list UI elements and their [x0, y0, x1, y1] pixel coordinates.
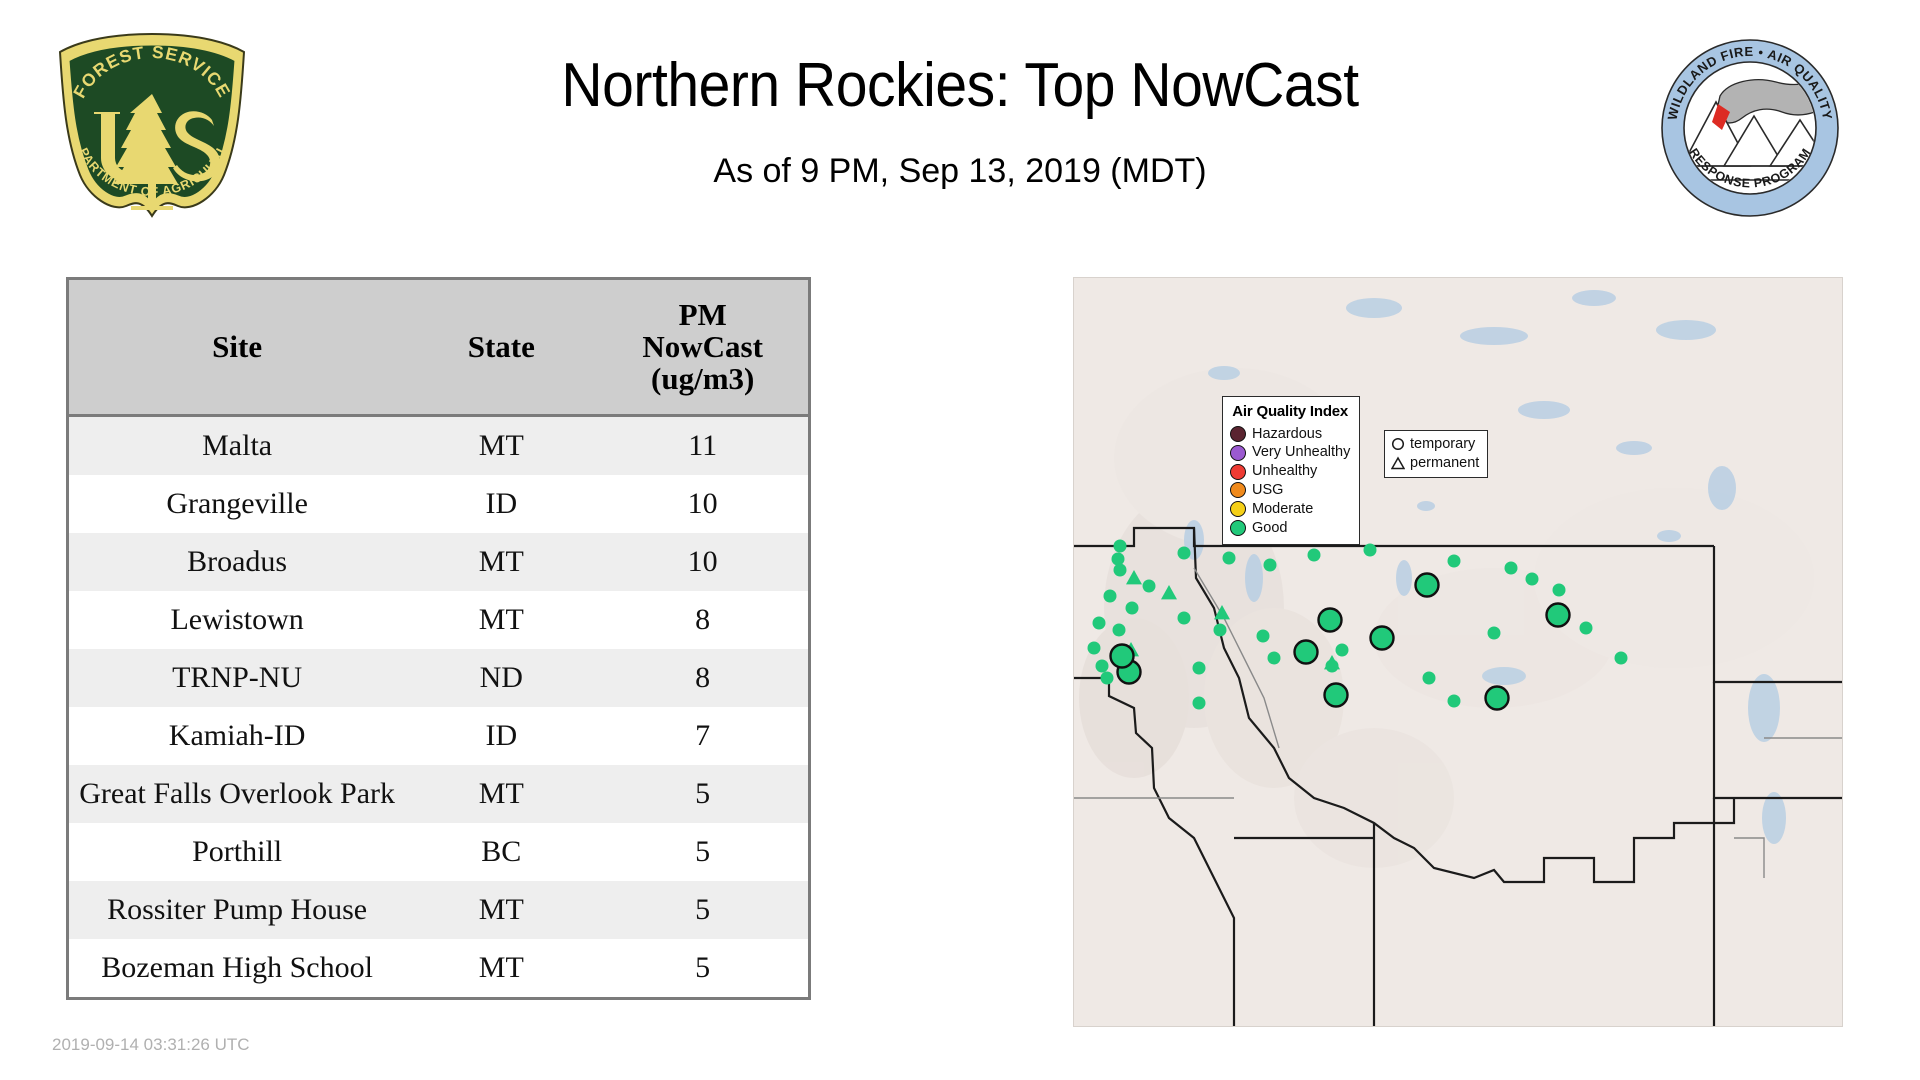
monitor-marker-top-site[interactable] — [1416, 574, 1439, 597]
legend-permanent-label: permanent — [1410, 454, 1479, 473]
monitor-marker-small[interactable] — [1143, 580, 1156, 593]
monitor-marker-top-site[interactable] — [1111, 645, 1134, 668]
air-quality-map[interactable]: Air Quality Index HazardousVery Unhealth… — [1073, 277, 1843, 1027]
triangle-icon — [1391, 456, 1405, 470]
table-row: Rossiter Pump HouseMT5 — [69, 881, 808, 939]
monitor-marker-small[interactable] — [1448, 695, 1461, 708]
legend-color-swatch — [1230, 482, 1246, 498]
monitor-marker-small[interactable] — [1101, 672, 1114, 685]
monitor-marker-small[interactable] — [1193, 697, 1206, 710]
monitor-marker-small[interactable] — [1113, 624, 1126, 637]
state-cell: BC — [405, 823, 597, 881]
monitor-marker-small[interactable] — [1505, 562, 1518, 575]
value-cell: 7 — [597, 707, 808, 765]
monitor-marker-small[interactable] — [1336, 644, 1349, 657]
legend-air-quality-index: Air Quality Index HazardousVery Unhealth… — [1222, 396, 1360, 545]
value-cell: 11 — [597, 416, 808, 476]
site-cell: Lewistown — [69, 591, 405, 649]
column-header-site: Site — [69, 280, 405, 416]
site-cell: Broadus — [69, 533, 405, 591]
legend-item-label: Moderate — [1252, 500, 1313, 519]
site-cell: Grangeville — [69, 475, 405, 533]
table-header: Site State PM NowCast (ug/m3) — [69, 280, 808, 416]
page-title: Northern Rockies: Top NowCast — [77, 50, 1843, 121]
value-cell: 10 — [597, 475, 808, 533]
value-cell: 5 — [597, 939, 808, 997]
value-cell: 5 — [597, 765, 808, 823]
footer-timestamp: 2019-09-14 03:31:26 UTC — [52, 1035, 250, 1055]
nowcast-table-container: Site State PM NowCast (ug/m3) MaltaMT11G… — [66, 277, 811, 1000]
column-header-state-label: State — [468, 329, 535, 364]
legend-item: Unhealthy — [1230, 462, 1350, 481]
table-row: Kamiah-IDID7 — [69, 707, 808, 765]
monitor-marker-small[interactable] — [1553, 584, 1566, 597]
monitor-marker-small[interactable] — [1488, 627, 1501, 640]
legend-temporary-row: temporary — [1391, 435, 1479, 454]
site-cell: Kamiah-ID — [69, 707, 405, 765]
monitor-marker-top-site[interactable] — [1319, 609, 1342, 632]
column-header-site-label: Site — [212, 329, 262, 364]
monitor-marker-top-site[interactable] — [1371, 627, 1394, 650]
legend-monitor-type: temporary permanent — [1384, 430, 1488, 478]
monitor-marker-small[interactable] — [1423, 672, 1436, 685]
state-cell: MT — [405, 939, 597, 997]
legend-temporary-label: temporary — [1410, 435, 1475, 454]
monitor-marker-top-site[interactable] — [1547, 604, 1570, 627]
state-cell: ND — [405, 649, 597, 707]
table-row: GrangevilleID10 — [69, 475, 808, 533]
table-row: PorthillBC5 — [69, 823, 808, 881]
monitor-marker-small[interactable] — [1104, 590, 1117, 603]
legend-item: Very Unhealthy — [1230, 443, 1350, 462]
table-row: BroadusMT10 — [69, 533, 808, 591]
monitor-marker-small[interactable] — [1257, 630, 1270, 643]
monitor-marker-small[interactable] — [1214, 624, 1227, 637]
state-cell: ID — [405, 475, 597, 533]
legend-color-swatch — [1230, 464, 1246, 480]
legend-items: HazardousVery UnhealthyUnhealthyUSGModer… — [1230, 425, 1350, 538]
monitor-marker-small[interactable] — [1193, 662, 1206, 675]
legend-item-label: Unhealthy — [1252, 462, 1317, 481]
monitor-marker-top-site[interactable] — [1486, 687, 1509, 710]
legend-item-label: Very Unhealthy — [1252, 443, 1350, 462]
legend-color-swatch — [1230, 426, 1246, 442]
legend-item-label: USG — [1252, 481, 1283, 500]
table-row: Bozeman High SchoolMT5 — [69, 939, 808, 997]
monitor-marker-small[interactable] — [1178, 612, 1191, 625]
monitor-marker-small[interactable] — [1526, 573, 1539, 586]
value-cell: 10 — [597, 533, 808, 591]
value-cell: 5 — [597, 881, 808, 939]
monitor-marker-small[interactable] — [1114, 540, 1127, 553]
wildland-fire-air-quality-logo: WILDLAND FIRE • AIR QUALITY RESPONSE PRO… — [1660, 38, 1840, 218]
column-header-state: State — [405, 280, 597, 416]
monitor-marker-small[interactable] — [1112, 553, 1125, 566]
legend-item-label: Good — [1252, 519, 1287, 538]
nowcast-table: Site State PM NowCast (ug/m3) MaltaMT11G… — [69, 280, 808, 997]
site-cell: Rossiter Pump House — [69, 881, 405, 939]
column-header-pm-line2: NowCast — [642, 329, 763, 364]
monitor-marker-small[interactable] — [1126, 602, 1139, 615]
monitor-marker-small[interactable] — [1268, 652, 1281, 665]
monitor-marker-small[interactable] — [1093, 617, 1106, 630]
state-cell: MT — [405, 416, 597, 476]
monitor-marker-small[interactable] — [1264, 559, 1277, 572]
monitor-marker-small[interactable] — [1308, 549, 1321, 562]
monitor-marker-small[interactable] — [1223, 552, 1236, 565]
column-header-pm-line3: (ug/m3) — [651, 361, 754, 396]
value-cell: 8 — [597, 649, 808, 707]
state-cell: MT — [405, 765, 597, 823]
monitor-marker-small[interactable] — [1364, 544, 1377, 557]
monitor-marker-small[interactable] — [1580, 622, 1593, 635]
legend-item: Good — [1230, 519, 1350, 538]
legend-item: Moderate — [1230, 500, 1350, 519]
site-cell: Great Falls Overlook Park — [69, 765, 405, 823]
site-cell: TRNP-NU — [69, 649, 405, 707]
monitor-marker-small[interactable] — [1448, 555, 1461, 568]
site-cell: Bozeman High School — [69, 939, 405, 997]
site-cell: Malta — [69, 416, 405, 476]
monitor-marker-small[interactable] — [1615, 652, 1628, 665]
monitor-marker-small[interactable] — [1178, 547, 1191, 560]
state-cell: MT — [405, 533, 597, 591]
table-header-row: Site State PM NowCast (ug/m3) — [69, 280, 808, 416]
value-cell: 5 — [597, 823, 808, 881]
table-body: MaltaMT11GrangevilleID10BroadusMT10Lewis… — [69, 416, 808, 998]
monitor-marker-small[interactable] — [1088, 642, 1101, 655]
table-row: MaltaMT11 — [69, 416, 808, 476]
page-subtitle: As of 9 PM, Sep 13, 2019 (MDT) — [0, 152, 1920, 191]
legend-color-swatch — [1230, 520, 1246, 536]
site-cell: Porthill — [69, 823, 405, 881]
state-cell: MT — [405, 591, 597, 649]
circle-icon — [1391, 437, 1405, 451]
legend-color-swatch — [1230, 501, 1246, 517]
column-header-pm-nowcast: PM NowCast (ug/m3) — [597, 280, 808, 416]
monitor-marker-top-site[interactable] — [1295, 641, 1318, 664]
legend-color-swatch — [1230, 445, 1246, 461]
monitor-marker-top-site[interactable] — [1325, 684, 1348, 707]
state-cell: MT — [405, 881, 597, 939]
state-cell: ID — [405, 707, 597, 765]
monitor-marker-small[interactable] — [1096, 660, 1109, 673]
column-header-pm-line1: PM — [679, 297, 727, 332]
value-cell: 8 — [597, 591, 808, 649]
legend-item: Hazardous — [1230, 425, 1350, 444]
monitor-marker-small[interactable] — [1114, 564, 1127, 577]
table-row: TRNP-NUND8 — [69, 649, 808, 707]
legend-title: Air Quality Index — [1230, 402, 1350, 422]
legend-permanent-row: permanent — [1391, 454, 1479, 473]
map-canvas — [1074, 278, 1842, 1026]
legend-item: USG — [1230, 481, 1350, 500]
table-row: Great Falls Overlook ParkMT5 — [69, 765, 808, 823]
legend-item-label: Hazardous — [1252, 425, 1322, 444]
table-row: LewistownMT8 — [69, 591, 808, 649]
